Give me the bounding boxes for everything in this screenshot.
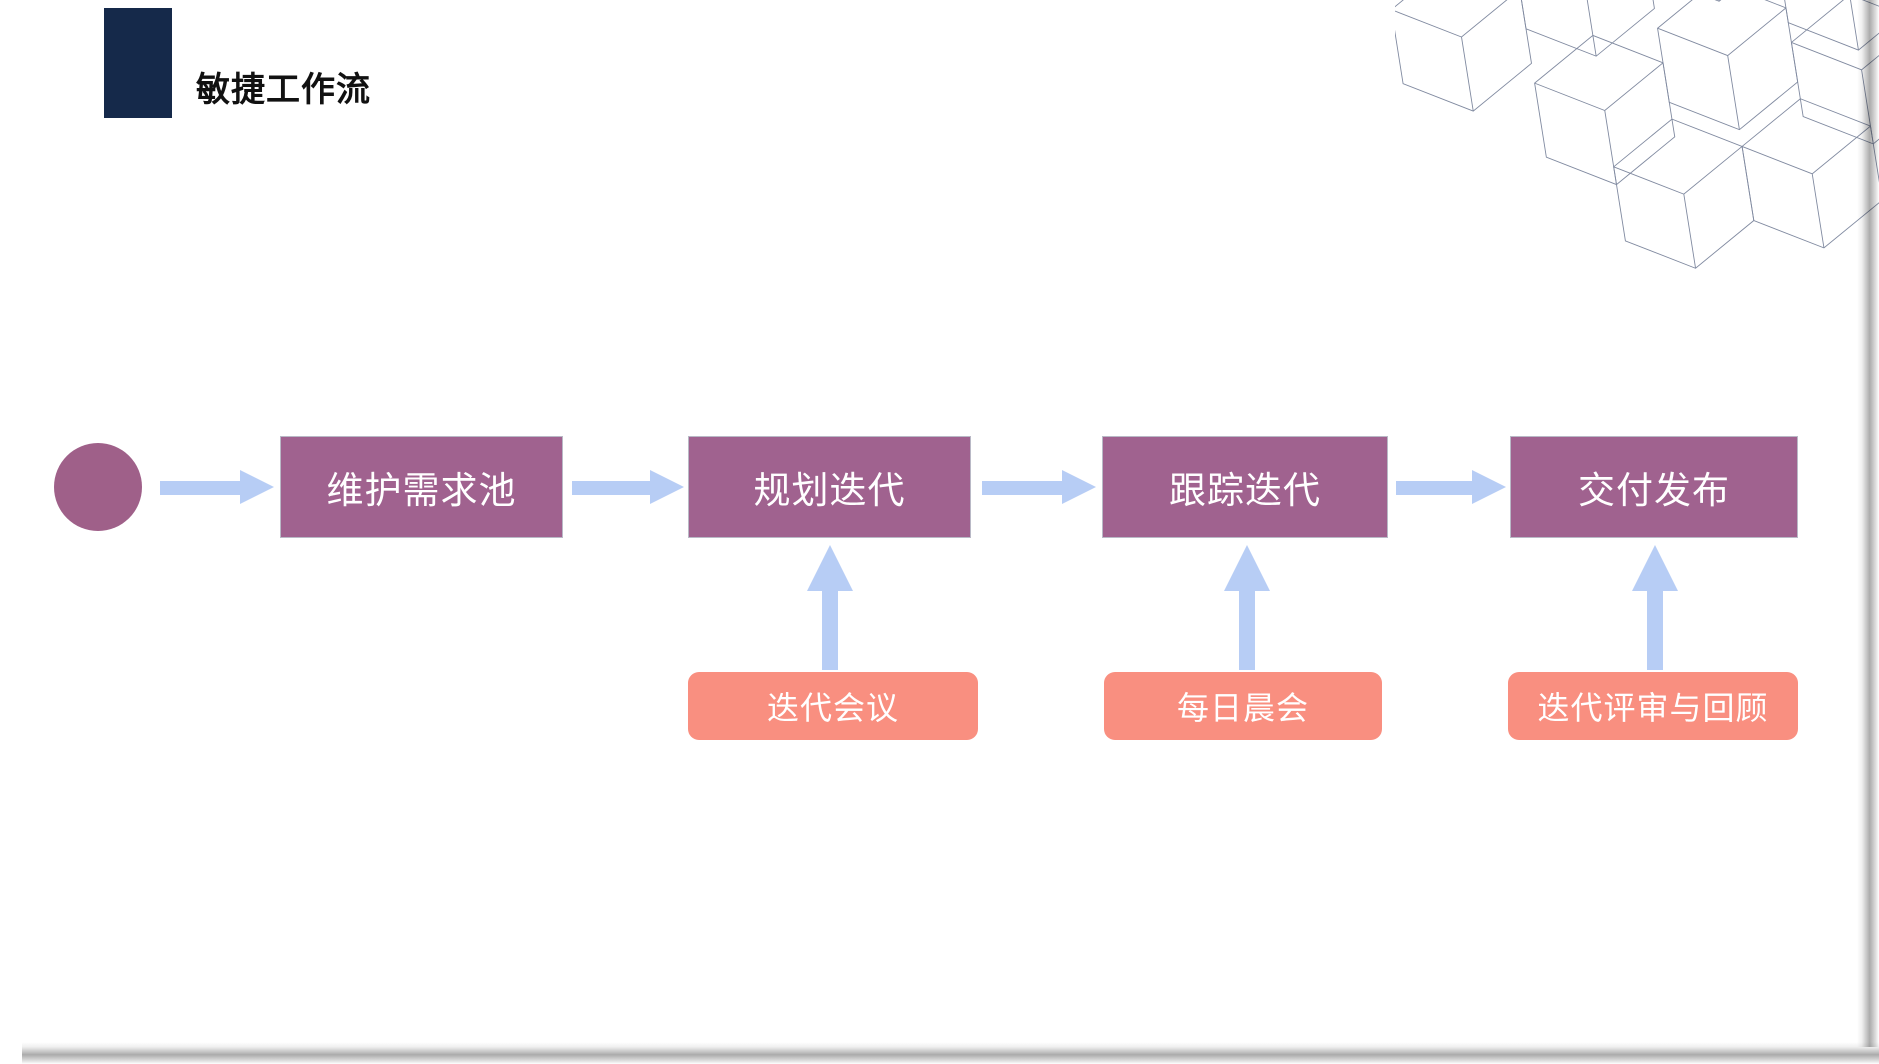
arrow-step3-to-step4-icon	[1396, 470, 1506, 504]
arrow-head	[1062, 470, 1096, 504]
arrow-step2-to-step3-icon	[982, 470, 1096, 504]
event-box-3-label: 迭代评审与回顾	[1537, 683, 1768, 729]
arrow-head	[1472, 470, 1506, 504]
arrow-head	[650, 470, 684, 504]
arrow-event1-to-step2-icon	[807, 545, 853, 670]
process-step-2[interactable]: 规划迭代	[688, 436, 971, 538]
arrow-head	[240, 470, 274, 504]
slide-canvas: 敏捷工作流 维护需求池 规划迭代 跟踪迭代 交付	[0, 0, 1879, 1064]
process-step-2-label: 规划迭代	[754, 460, 906, 514]
process-step-1-label: 维护需求池	[327, 460, 517, 514]
process-step-4[interactable]: 交付发布	[1510, 436, 1798, 538]
arrow-shaft	[982, 481, 1062, 495]
arrow-event3-to-step4-icon	[1632, 545, 1678, 670]
workflow-diagram: 维护需求池 规划迭代 跟踪迭代 交付发布	[0, 0, 1879, 1064]
process-step-3-label: 跟踪迭代	[1169, 460, 1321, 514]
start-node[interactable]	[54, 443, 142, 531]
arrow-start-to-step1-icon	[160, 470, 274, 504]
process-step-4-label: 交付发布	[1578, 460, 1730, 514]
arrow-shaft	[1647, 585, 1663, 670]
arrow-step1-to-step2-icon	[572, 470, 684, 504]
event-box-1-label: 迭代会议	[767, 683, 899, 729]
event-box-2[interactable]: 每日晨会	[1104, 672, 1382, 740]
event-box-1[interactable]: 迭代会议	[688, 672, 978, 740]
arrow-shaft	[160, 481, 240, 495]
arrow-shaft	[572, 481, 650, 495]
event-box-3[interactable]: 迭代评审与回顾	[1508, 672, 1798, 740]
event-box-2-label: 每日晨会	[1177, 683, 1309, 729]
arrow-shaft	[1239, 585, 1255, 670]
arrow-event2-to-step3-icon	[1224, 545, 1270, 670]
process-step-1[interactable]: 维护需求池	[280, 436, 563, 538]
process-step-3[interactable]: 跟踪迭代	[1102, 436, 1388, 538]
arrow-shaft	[822, 585, 838, 670]
arrow-shaft	[1396, 481, 1472, 495]
